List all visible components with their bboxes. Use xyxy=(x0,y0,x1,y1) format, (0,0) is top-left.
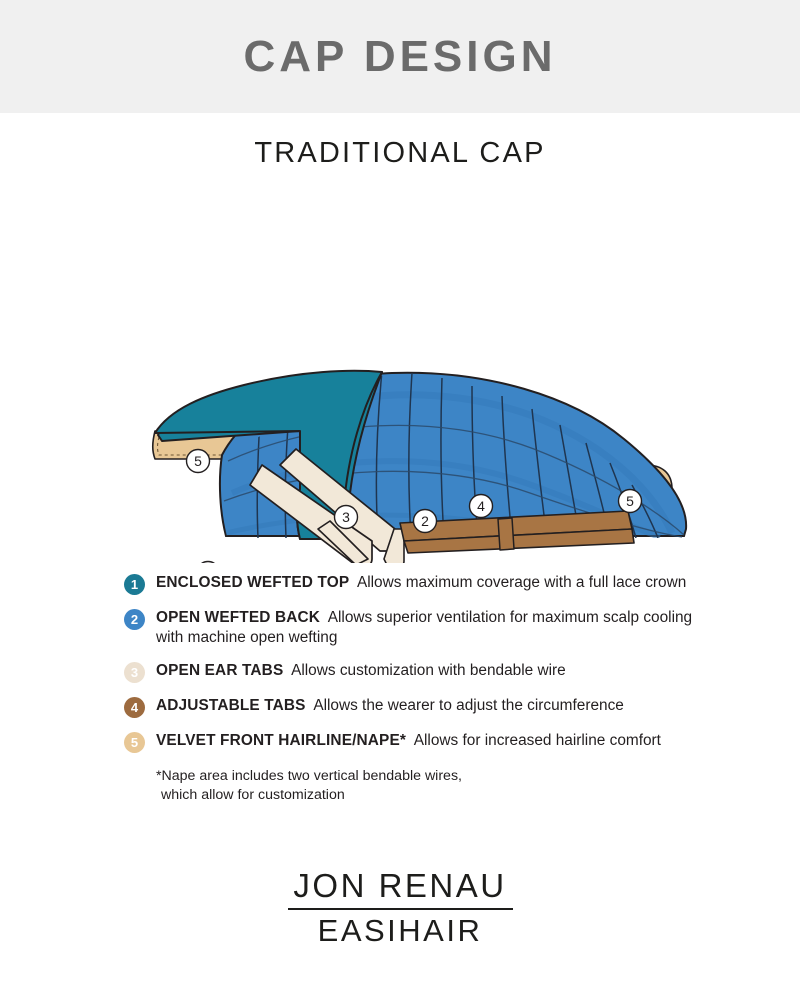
logo-sub-brand-name: EASIHAIR xyxy=(318,914,483,949)
legend-term-3: OPEN EAR TABS xyxy=(156,662,283,679)
svg-text:4: 4 xyxy=(477,498,485,514)
legend-item-2: 2 OPEN WEFTED BACK Allows superior venti… xyxy=(0,608,800,648)
diagram-marker-3: 3 xyxy=(335,506,358,529)
legend-desc-3: Allows customization with bendable wire xyxy=(291,662,566,679)
diagram-marker-1: 1 xyxy=(197,562,220,564)
subtitle-container: TRADITIONAL CAP xyxy=(0,113,800,193)
legend-term-4: ADJUSTABLE TABS xyxy=(156,697,306,714)
legend-text-5: VELVET FRONT HAIRLINE/NAPE* Allows for i… xyxy=(156,731,661,751)
legend-item-5: 5 VELVET FRONT HAIRLINE/NAPE* Allows for… xyxy=(0,731,800,753)
legend-text-4: ADJUSTABLE TABS Allows the wearer to adj… xyxy=(156,696,624,716)
legend-desc-4: Allows the wearer to adjust the circumfe… xyxy=(313,697,624,714)
legend-term-5: VELVET FRONT HAIRLINE/NAPE* xyxy=(156,732,406,749)
legend-text-1: ENCLOSED WEFTED TOP Allows maximum cover… xyxy=(156,573,686,593)
legend-badge-3: 3 xyxy=(124,662,145,683)
cap-illustration-svg: 1 2 3 4 5 5 xyxy=(0,193,800,563)
legend-badge-4: 4 xyxy=(124,697,145,718)
diagram-marker-5-right: 5 xyxy=(619,490,642,513)
legend-badge-1: 1 xyxy=(124,574,145,595)
svg-text:2: 2 xyxy=(421,513,429,529)
logo-divider xyxy=(288,908,513,910)
logo-brand-name: JON RENAU xyxy=(293,868,506,905)
legend-term-2: OPEN WEFTED BACK xyxy=(156,609,320,626)
legend-desc-5: Allows for increased hairline comfort xyxy=(414,732,661,749)
legend-item-1: 1 ENCLOSED WEFTED TOP Allows maximum cov… xyxy=(0,573,800,595)
legend-badge-2: 2 xyxy=(124,609,145,630)
legend-item-4: 4 ADJUSTABLE TABS Allows the wearer to a… xyxy=(0,696,800,718)
legend-desc-1: Allows maximum coverage with a full lace… xyxy=(357,574,686,591)
legend-text-3: OPEN EAR TABS Allows customization with … xyxy=(156,661,566,681)
header-band: CAP DESIGN xyxy=(0,0,800,113)
brand-logo: JON RENAU EASIHAIR xyxy=(0,868,800,949)
legend-list: 1 ENCLOSED WEFTED TOP Allows maximum cov… xyxy=(0,563,800,753)
svg-text:5: 5 xyxy=(626,493,634,509)
svg-text:3: 3 xyxy=(342,509,350,525)
svg-text:5: 5 xyxy=(194,453,202,469)
page-title: CAP DESIGN xyxy=(243,35,556,79)
legend-badge-5: 5 xyxy=(124,732,145,753)
legend-text-2: OPEN WEFTED BACK Allows superior ventila… xyxy=(156,608,701,648)
legend-term-1: ENCLOSED WEFTED TOP xyxy=(156,574,349,591)
legend-item-3: 3 OPEN EAR TABS Allows customization wit… xyxy=(0,661,800,683)
diagram-marker-4: 4 xyxy=(470,495,493,518)
footnote-line-1: *Nape area includes two vertical bendabl… xyxy=(156,767,800,786)
footnote-line-2: which allow for customization xyxy=(156,786,800,805)
diagram-marker-2: 2 xyxy=(414,510,437,533)
footnote: *Nape area includes two vertical bendabl… xyxy=(0,767,800,805)
cap-type-title: TRADITIONAL CAP xyxy=(254,137,545,170)
diagram-marker-5-left: 5 xyxy=(187,450,210,473)
cap-diagram: 1 2 3 4 5 5 xyxy=(0,193,800,563)
